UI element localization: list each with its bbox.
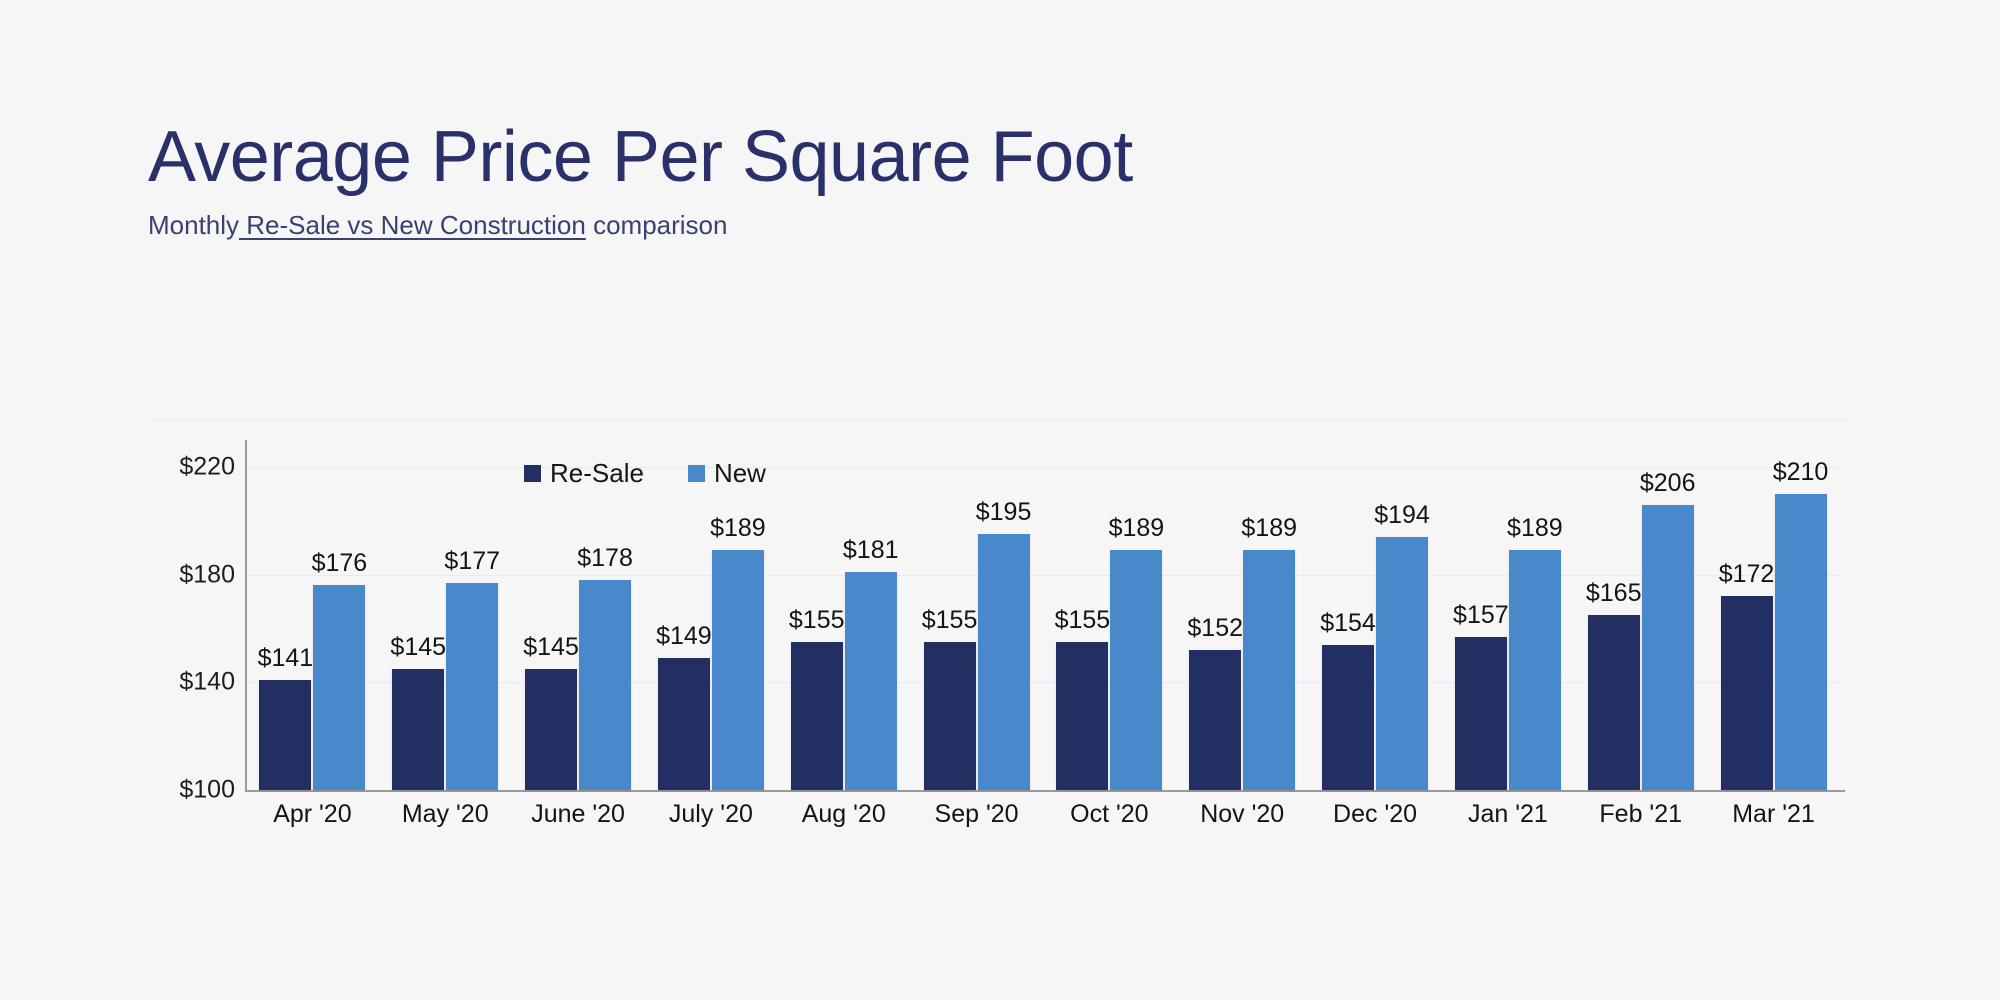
bar-group: $149$189 bbox=[644, 440, 777, 790]
bar-re-sale[interactable]: $152 bbox=[1189, 650, 1241, 790]
bar-value-label: $141 bbox=[258, 644, 314, 673]
legend-label: Re-Sale bbox=[550, 458, 644, 489]
y-axis-tick-label: $220 bbox=[179, 452, 235, 481]
bar-value-label: $189 bbox=[710, 514, 766, 543]
bar-group: $155$189 bbox=[1043, 440, 1176, 790]
bar-re-sale[interactable]: $155 bbox=[791, 642, 843, 790]
x-axis-tick-label: Aug '20 bbox=[777, 800, 910, 829]
bar-group: $165$206 bbox=[1574, 440, 1707, 790]
bar-new[interactable]: $177 bbox=[446, 583, 498, 790]
x-axis-tick-label: July '20 bbox=[644, 800, 777, 829]
bar-group: $157$189 bbox=[1441, 440, 1574, 790]
bar-value-label: $154 bbox=[1320, 609, 1376, 638]
legend-swatch-icon bbox=[524, 465, 541, 482]
bar-value-label: $210 bbox=[1773, 458, 1829, 487]
bar-re-sale[interactable]: $145 bbox=[392, 669, 444, 790]
bar-group: $154$194 bbox=[1309, 440, 1442, 790]
bar-value-label: $178 bbox=[577, 544, 633, 573]
bar-new[interactable]: $176 bbox=[313, 585, 365, 790]
bar-group: $145$177 bbox=[379, 440, 512, 790]
bar-new[interactable]: $189 bbox=[1243, 550, 1295, 790]
legend-label: New bbox=[714, 458, 766, 489]
bar-value-label: $194 bbox=[1374, 501, 1430, 530]
bar-group: $155$195 bbox=[910, 440, 1043, 790]
x-axis-tick-label: Sep '20 bbox=[910, 800, 1043, 829]
y-axis-tick-label: $140 bbox=[179, 668, 235, 697]
bar-value-label: $155 bbox=[1055, 606, 1111, 635]
x-axis-tick-labels: Apr '20May '20June '20July '20Aug '20Sep… bbox=[246, 800, 1840, 829]
bar-new[interactable]: $210 bbox=[1775, 494, 1827, 790]
legend-item[interactable]: New bbox=[688, 458, 766, 489]
bar-value-label: $195 bbox=[976, 498, 1032, 527]
bar-group: $152$189 bbox=[1176, 440, 1309, 790]
bar-value-label: $206 bbox=[1640, 469, 1696, 498]
bar-value-label: $189 bbox=[1507, 514, 1563, 543]
bar-new[interactable]: $189 bbox=[1509, 550, 1561, 790]
bar-group: $155$181 bbox=[777, 440, 910, 790]
bar-re-sale[interactable]: $149 bbox=[658, 658, 710, 790]
bar-group: $172$210 bbox=[1707, 440, 1840, 790]
bar-re-sale[interactable]: $155 bbox=[924, 642, 976, 790]
bar-value-label: $149 bbox=[656, 622, 712, 651]
bar-value-label: $145 bbox=[523, 633, 579, 662]
bar-value-label: $172 bbox=[1719, 560, 1775, 589]
x-axis-tick-label: Apr '20 bbox=[246, 800, 379, 829]
x-axis-tick-label: Dec '20 bbox=[1309, 800, 1442, 829]
bar-re-sale[interactable]: $172 bbox=[1721, 596, 1773, 790]
bar-re-sale[interactable]: $145 bbox=[525, 669, 577, 790]
bar-value-label: $157 bbox=[1453, 601, 1509, 630]
bar-re-sale[interactable]: $157 bbox=[1455, 637, 1507, 790]
bar-re-sale[interactable]: $155 bbox=[1056, 642, 1108, 790]
bar-new[interactable]: $206 bbox=[1642, 505, 1694, 790]
chart-plot: $100$140$180$220 Re-SaleNew $141$176$145… bbox=[0, 0, 2000, 1000]
bar-value-label: $165 bbox=[1586, 579, 1642, 608]
bar-value-label: $189 bbox=[1241, 514, 1297, 543]
x-axis-tick-label: May '20 bbox=[379, 800, 512, 829]
x-axis-tick-label: Feb '21 bbox=[1574, 800, 1707, 829]
bar-re-sale[interactable]: $165 bbox=[1588, 615, 1640, 790]
chart-legend: Re-SaleNew bbox=[524, 458, 766, 489]
bar-new[interactable]: $189 bbox=[1110, 550, 1162, 790]
x-axis-tick-label: June '20 bbox=[512, 800, 645, 829]
bar-groups: $141$176$145$177$145$178$149$189$155$181… bbox=[246, 440, 1840, 790]
x-axis-tick-label: Oct '20 bbox=[1043, 800, 1176, 829]
bar-value-label: $189 bbox=[1109, 514, 1165, 543]
x-axis-tick-label: Mar '21 bbox=[1707, 800, 1840, 829]
bar-value-label: $181 bbox=[843, 536, 899, 565]
bar-group: $141$176 bbox=[246, 440, 379, 790]
x-axis-line bbox=[245, 790, 1845, 792]
legend-swatch-icon bbox=[688, 465, 705, 482]
y-axis-tick-labels: $100$140$180$220 bbox=[150, 0, 235, 1000]
bar-new[interactable]: $189 bbox=[712, 550, 764, 790]
bar-new[interactable]: $181 bbox=[845, 572, 897, 790]
bar-value-label: $145 bbox=[390, 633, 446, 662]
bar-new[interactable]: $178 bbox=[579, 580, 631, 790]
x-axis-tick-label: Nov '20 bbox=[1176, 800, 1309, 829]
y-axis-tick-label: $180 bbox=[179, 560, 235, 589]
bar-new[interactable]: $194 bbox=[1376, 537, 1428, 790]
bar-value-label: $177 bbox=[444, 547, 500, 576]
legend-item[interactable]: Re-Sale bbox=[524, 458, 644, 489]
bar-value-label: $152 bbox=[1187, 614, 1243, 643]
y-axis-tick-label: $100 bbox=[179, 776, 235, 805]
bar-new[interactable]: $195 bbox=[978, 534, 1030, 790]
bar-value-label: $155 bbox=[922, 606, 978, 635]
bar-re-sale[interactable]: $141 bbox=[259, 680, 311, 790]
x-axis-tick-label: Jan '21 bbox=[1441, 800, 1574, 829]
bar-group: $145$178 bbox=[512, 440, 645, 790]
bar-re-sale[interactable]: $154 bbox=[1322, 645, 1374, 790]
bar-value-label: $155 bbox=[789, 606, 845, 635]
bar-value-label: $176 bbox=[312, 549, 368, 578]
